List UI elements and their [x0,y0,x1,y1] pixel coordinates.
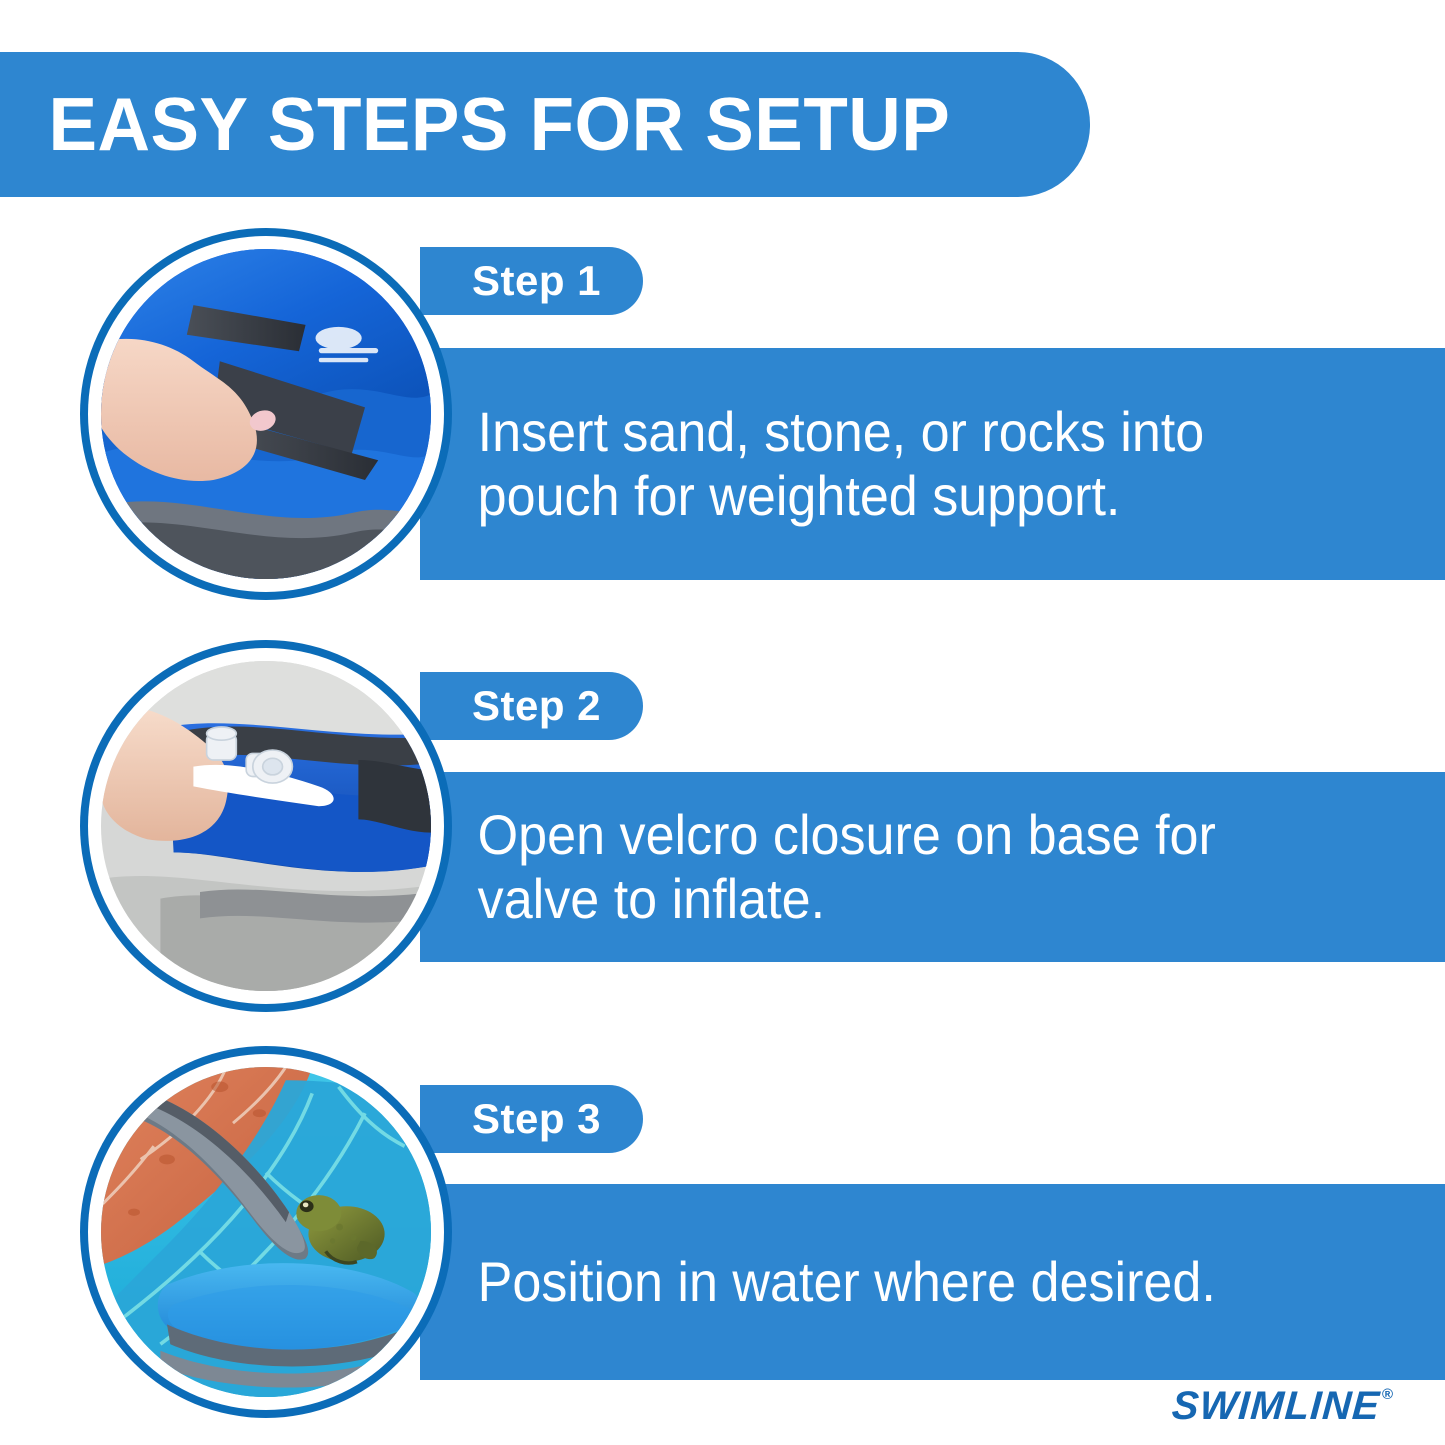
photo-ring-gap [88,1054,444,1410]
photo-ring-gap [88,648,444,1004]
swimline-logo-text: SWIMLINE [1171,1386,1382,1426]
header-banner: EASY STEPS FOR SETUP [0,52,1090,197]
step-badge-3: Step 3 [420,1085,643,1153]
step-badge-2: Step 2 [420,672,643,740]
registered-trademark-icon: ® [1382,1387,1393,1402]
step-badge-label: Step 1 [472,260,601,302]
page-title: EASY STEPS FOR SETUP [0,87,950,162]
photo-ring-gap [88,236,444,592]
step-text-bar-3: Position in water where desired. [420,1184,1445,1380]
step-badge-1: Step 1 [420,247,643,315]
step-photo-2 [80,640,452,1012]
photo-image-frog-on-ramp [101,1067,431,1397]
step-description: Open velcro closure on base for valve to… [420,803,1373,931]
step-photo-3 [80,1046,452,1418]
step-description: Position in water where desired. [420,1250,1253,1314]
photo-image-sand-pouch [101,249,431,579]
step-badge-label: Step 3 [472,1098,601,1140]
photo-artwork-step1 [101,249,431,579]
step-badge-label: Step 2 [472,685,601,727]
step-photo-1 [80,228,452,600]
step-text-bar-1: Insert sand, stone, or rocks into pouch … [420,348,1445,580]
swimline-logo: SWIMLINE ® [1172,1386,1393,1426]
photo-artwork-step2 [101,661,431,991]
step-description: Insert sand, stone, or rocks into pouch … [420,400,1373,528]
photo-artwork-step3 [101,1067,431,1397]
photo-image-velcro-valve [101,661,431,991]
step-text-bar-2: Open velcro closure on base for valve to… [420,772,1445,962]
